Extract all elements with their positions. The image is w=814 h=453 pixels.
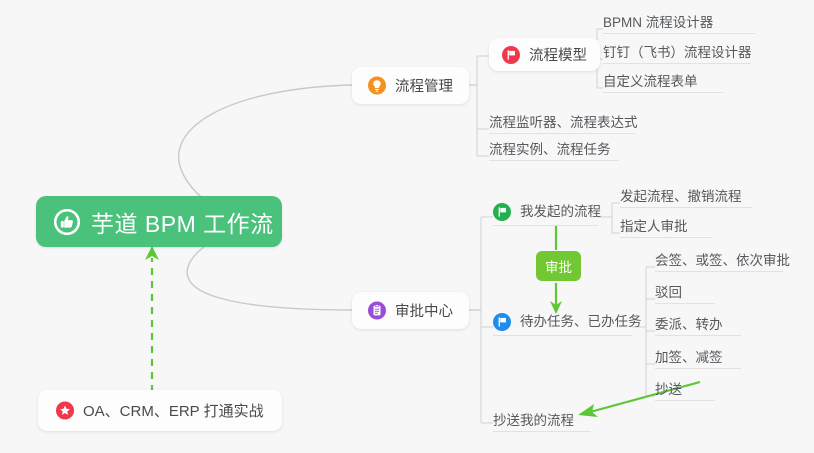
root-node-label: 芋道 BPM 工作流 [91,205,274,239]
leaf-cc-label: 抄送 [655,383,682,397]
leaf-process-listener-label: 流程监听器、流程表达式 [489,116,638,130]
branch-node-process-management[interactable]: 流程管理 [352,67,469,104]
node-todo-done-tasks-label: 待办任务、已办任务 [520,315,642,329]
leaf-cc[interactable]: 抄送 [655,373,715,401]
leaf-add-remove-sign[interactable]: 加签、减签 [655,341,741,369]
leaf-bpmn-designer[interactable]: BPMN 流程设计器 [603,6,755,34]
star-icon [56,402,74,420]
callout-node[interactable]: OA、CRM、ERP 打通实战 [38,390,282,431]
leaf-add-remove-sign-label: 加签、减签 [655,351,723,365]
leaf-countersign[interactable]: 会签、或签、依次审批 [655,244,783,272]
root-node[interactable]: 芋道 BPM 工作流 [36,196,282,247]
leaf-start-cancel-process-label: 发起流程、撤销流程 [620,190,742,204]
node-process-model[interactable]: 流程模型 [489,38,600,71]
dashed-link-arrow-head-up [145,246,159,260]
flag-icon [502,46,520,64]
mindmap-canvas: 芋道 BPM 工作流 OA、CRM、ERP 打通实战 流程管理 [0,0,814,453]
leaf-start-cancel-process[interactable]: 发起流程、撤销流程 [620,180,752,208]
approval-flow-badge-label: 审批 [545,260,572,275]
lightbulb-icon [368,77,386,95]
leaf-reject[interactable]: 驳回 [655,276,715,304]
leaf-dingtalk-designer[interactable]: 钉钉（飞书）流程设计器 [603,36,751,64]
leaf-dingtalk-designer-label: 钉钉（飞书）流程设计器 [603,46,752,60]
branch-node-approval-center-label: 审批中心 [395,300,453,321]
node-my-initiated-processes-label: 我发起的流程 [520,205,601,219]
approval-flow-badge[interactable]: 审批 [536,251,581,281]
branch-node-process-management-label: 流程管理 [395,75,453,96]
leaf-delegate-transfer[interactable]: 委派、转办 [655,308,741,336]
leaf-custom-form-label: 自定义流程表单 [603,75,698,89]
leaf-assignee-approval[interactable]: 指定人审批 [620,210,712,238]
leaf-cc-to-me-processes-label: 抄送我的流程 [493,414,574,428]
leaf-delegate-transfer-label: 委派、转办 [655,318,723,332]
node-process-model-label: 流程模型 [529,44,587,65]
leaf-process-instance-label: 流程实例、流程任务 [489,143,611,157]
leaf-process-listener[interactable]: 流程监听器、流程表达式 [489,106,635,134]
leaf-assignee-approval-label: 指定人审批 [620,220,688,234]
thumbs-up-icon [54,209,80,235]
leaf-cc-to-me-processes[interactable]: 抄送我的流程 [493,404,591,432]
node-todo-done-tasks[interactable]: 待办任务、已办任务 [493,308,632,336]
leaf-process-instance[interactable]: 流程实例、流程任务 [489,133,619,161]
flag-icon [493,203,511,221]
node-my-initiated-processes[interactable]: 我发起的流程 [493,198,598,226]
leaf-bpmn-designer-label: BPMN 流程设计器 [603,16,713,30]
leaf-custom-form[interactable]: 自定义流程表单 [603,65,723,93]
clipboard-icon [368,302,386,320]
leaf-reject-label: 驳回 [655,286,682,300]
leaf-countersign-label: 会签、或签、依次审批 [655,254,790,268]
branch-node-approval-center[interactable]: 审批中心 [352,292,469,329]
flag-icon [493,313,511,331]
callout-node-label: OA、CRM、ERP 打通实战 [83,400,264,421]
